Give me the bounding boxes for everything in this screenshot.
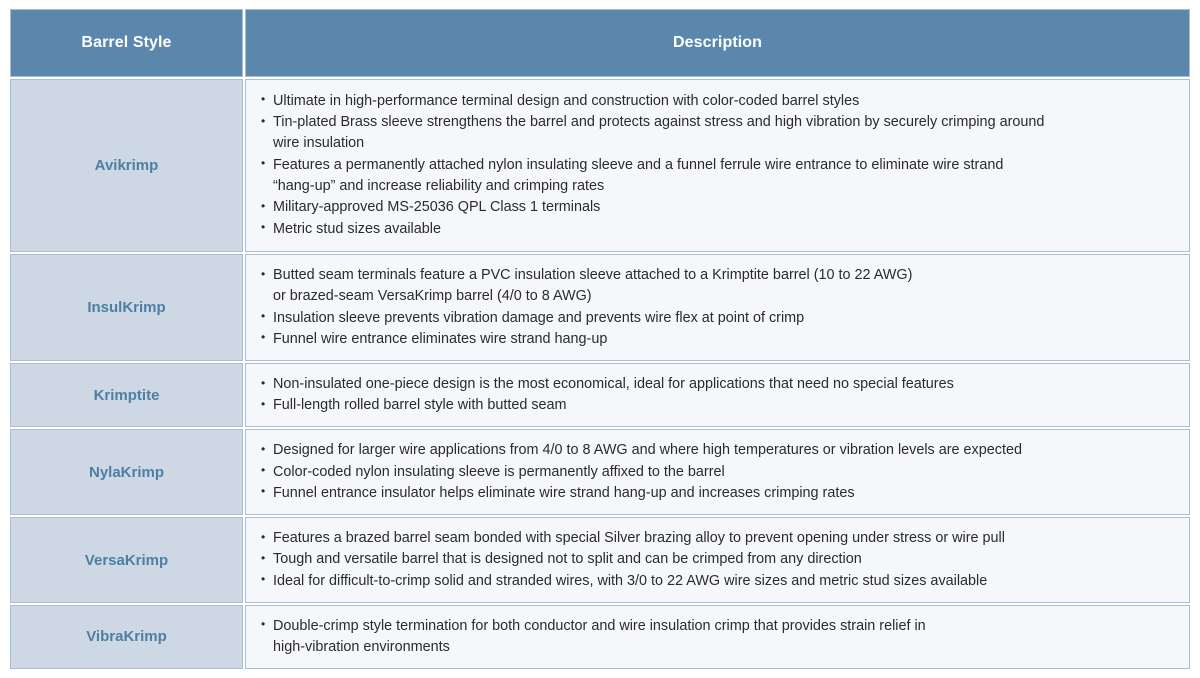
description-bullet-line: Funnel entrance insulator helps eliminat… [273, 483, 1177, 504]
description-bullet-item: Tin-plated Brass sleeve strengthens the … [260, 112, 1177, 155]
description-bullet-item: Color-coded nylon insulating sleeve is p… [260, 462, 1177, 483]
description-bullet-line: high-vibration environments [273, 637, 1177, 658]
description-bullet-item: Double-crimp style termination for both … [260, 616, 1177, 659]
description-bullet-list: Features a brazed barrel seam bonded wit… [260, 528, 1177, 592]
table-row: InsulKrimpButted seam terminals feature … [10, 254, 1190, 362]
description-bullet-line: Military-approved MS-25036 QPL Class 1 t… [273, 197, 1177, 218]
description-bullet-item: Non-insulated one-piece design is the mo… [260, 374, 1177, 395]
table-row: KrimptiteNon-insulated one-piece design … [10, 363, 1190, 427]
description-bullet-line: Features a permanently attached nylon in… [273, 155, 1177, 176]
table-header: Barrel Style Description [10, 9, 1190, 77]
barrel-style-name: VersaKrimp [10, 517, 243, 603]
barrel-style-description: Ultimate in high-performance terminal de… [245, 79, 1190, 252]
description-bullet-list: Non-insulated one-piece design is the mo… [260, 374, 1177, 417]
barrel-style-description: Features a brazed barrel seam bonded wit… [245, 517, 1190, 603]
barrel-style-description: Non-insulated one-piece design is the mo… [245, 363, 1190, 427]
table-row: NylaKrimpDesigned for larger wire applic… [10, 429, 1190, 515]
column-header-description: Description [245, 9, 1190, 77]
description-bullet-line: Non-insulated one-piece design is the mo… [273, 374, 1177, 395]
description-bullet-item: Designed for larger wire applications fr… [260, 440, 1177, 461]
description-bullet-line: Butted seam terminals feature a PVC insu… [273, 265, 1177, 286]
barrel-style-name: Krimptite [10, 363, 243, 427]
description-bullet-item: Insulation sleeve prevents vibration dam… [260, 308, 1177, 329]
barrel-style-description: Designed for larger wire applications fr… [245, 429, 1190, 515]
description-bullet-line: Tin-plated Brass sleeve strengthens the … [273, 112, 1177, 133]
description-bullet-line: wire insulation [273, 133, 1177, 154]
barrel-style-name: NylaKrimp [10, 429, 243, 515]
description-bullet-line: Funnel wire entrance eliminates wire str… [273, 329, 1177, 350]
description-bullet-item: Butted seam terminals feature a PVC insu… [260, 265, 1177, 308]
description-bullet-line: Features a brazed barrel seam bonded wit… [273, 528, 1177, 549]
description-bullet-item: Features a permanently attached nylon in… [260, 155, 1177, 198]
table-body: AvikrimpUltimate in high-performance ter… [10, 79, 1190, 669]
barrel-style-table-container: Barrel Style Description AvikrimpUltimat… [0, 0, 1200, 678]
description-bullet-list: Ultimate in high-performance terminal de… [260, 91, 1177, 240]
description-bullet-item: Ideal for difficult-to-crimp solid and s… [260, 571, 1177, 592]
description-bullet-item: Features a brazed barrel seam bonded wit… [260, 528, 1177, 549]
description-bullet-line: Full-length rolled barrel style with but… [273, 395, 1177, 416]
description-bullet-item: Tough and versatile barrel that is desig… [260, 549, 1177, 570]
table-header-row: Barrel Style Description [10, 9, 1190, 77]
description-bullet-line: Double-crimp style termination for both … [273, 616, 1177, 637]
description-bullet-line: “hang-up” and increase reliability and c… [273, 176, 1177, 197]
column-header-barrel-style: Barrel Style [10, 9, 243, 77]
barrel-style-description: Butted seam terminals feature a PVC insu… [245, 254, 1190, 362]
description-bullet-item: Military-approved MS-25036 QPL Class 1 t… [260, 197, 1177, 218]
description-bullet-list: Butted seam terminals feature a PVC insu… [260, 265, 1177, 350]
description-bullet-line: Tough and versatile barrel that is desig… [273, 549, 1177, 570]
table-row: AvikrimpUltimate in high-performance ter… [10, 79, 1190, 252]
description-bullet-item: Metric stud sizes available [260, 219, 1177, 240]
description-bullet-item: Full-length rolled barrel style with but… [260, 395, 1177, 416]
description-bullet-line: Metric stud sizes available [273, 219, 1177, 240]
table-row: VibraKrimpDouble-crimp style termination… [10, 605, 1190, 669]
description-bullet-list: Double-crimp style termination for both … [260, 616, 1177, 659]
description-bullet-line: Color-coded nylon insulating sleeve is p… [273, 462, 1177, 483]
description-bullet-line: Insulation sleeve prevents vibration dam… [273, 308, 1177, 329]
description-bullet-item: Funnel entrance insulator helps eliminat… [260, 483, 1177, 504]
barrel-style-name: InsulKrimp [10, 254, 243, 362]
description-bullet-line: or brazed-seam VersaKrimp barrel (4/0 to… [273, 286, 1177, 307]
description-bullet-line: Ultimate in high-performance terminal de… [273, 91, 1177, 112]
description-bullet-list: Designed for larger wire applications fr… [260, 440, 1177, 504]
barrel-style-table: Barrel Style Description AvikrimpUltimat… [8, 7, 1192, 671]
description-bullet-line: Designed for larger wire applications fr… [273, 440, 1177, 461]
barrel-style-name: Avikrimp [10, 79, 243, 252]
barrel-style-description: Double-crimp style termination for both … [245, 605, 1190, 669]
description-bullet-item: Ultimate in high-performance terminal de… [260, 91, 1177, 112]
description-bullet-line: Ideal for difficult-to-crimp solid and s… [273, 571, 1177, 592]
table-row: VersaKrimpFeatures a brazed barrel seam … [10, 517, 1190, 603]
barrel-style-name: VibraKrimp [10, 605, 243, 669]
description-bullet-item: Funnel wire entrance eliminates wire str… [260, 329, 1177, 350]
